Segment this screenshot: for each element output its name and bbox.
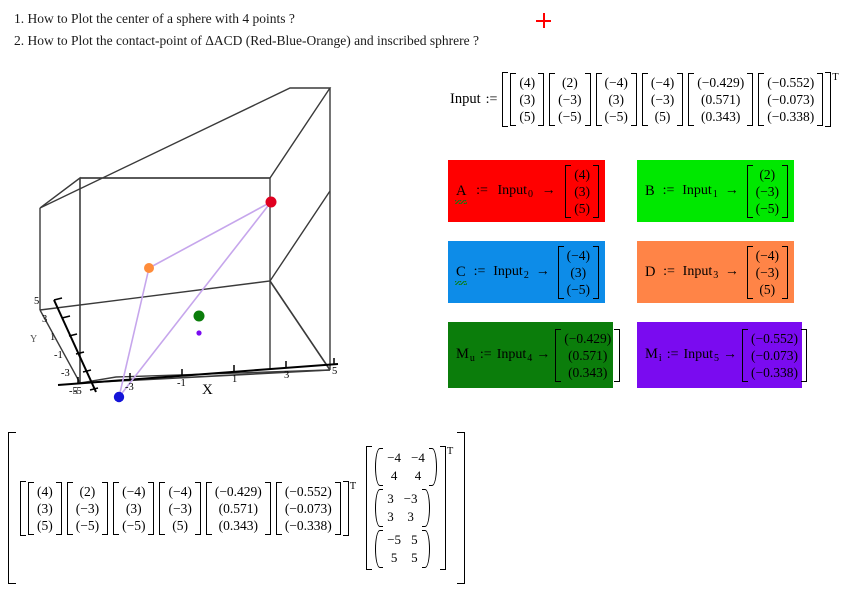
result-vector-1-cell-1: (−3): [756, 183, 779, 200]
questions-block: 1. How to Plot the center of a sphere wi…: [14, 8, 574, 52]
bottom-pair-group: −4−4443−333−5555 T: [366, 446, 453, 570]
evaluate-arrow-icon: →: [536, 264, 550, 280]
result-vector-5-cell-2: (−0.338): [751, 364, 798, 381]
bottom-vector-3-cell-2: (5): [168, 517, 191, 534]
input-definition-region[interactable]: Input := (4)(3)(5)(2)(−3)(−5)(−4)(3)(−5)…: [450, 72, 839, 127]
evaluate-arrow-icon: →: [542, 183, 556, 199]
x-axis-label: X: [202, 382, 213, 399]
input-vector-2-cell-0: (−4): [605, 74, 628, 91]
pair-block-2-cell-1-0: 5: [387, 550, 401, 566]
y-axis-label: Y: [30, 334, 36, 345]
assign-operator: :=: [480, 347, 492, 363]
bottom-vector-2: (−4)(3)(−5): [113, 482, 154, 535]
bottom-pair-transpose: T: [447, 446, 453, 457]
result-vector-4: (−0.429)(0.571)(0.343): [555, 329, 620, 382]
input-vector-5-cell-2: (−0.338): [767, 108, 814, 125]
bottom-vector-4-cell-1: (0.571): [215, 500, 262, 517]
bottom-vector-1-cell-1: (−3): [76, 500, 99, 517]
bottom-vector-5-cell-0: (−0.552): [285, 483, 332, 500]
definition-expression-b: B:=Input1→(2)(−3)(−5): [645, 165, 788, 218]
definition-expression-a: A:=Input0→(4)(3)(5): [456, 165, 599, 218]
point-mi: [196, 330, 201, 335]
pair-block-1-cell-0-1: −3: [404, 491, 418, 507]
bottom-vector-4: (−0.429)(0.571)(0.343): [206, 482, 271, 535]
pair-block-0-cell-1-0: 4: [387, 468, 401, 484]
input-vector-list: (4)(3)(5)(2)(−3)(−5)(−4)(3)(−5)(−4)(−3)(…: [508, 72, 825, 127]
input-vector-0-cell-0: (4): [519, 74, 535, 91]
source-reference: Input5: [683, 347, 719, 364]
input-vector-0: (4)(3)(5): [510, 73, 544, 126]
pair-block-2: −5555: [375, 530, 437, 568]
pair-block-0-cell-0-1: −4: [411, 450, 425, 466]
definition-identifier: Mi: [645, 346, 662, 364]
input-vector-2: (−4)(3)(−5): [596, 73, 637, 126]
assign-operator: :=: [474, 264, 486, 280]
definition-expression-mu: Mu:=Input4→(−0.429)(0.571)(0.343): [456, 329, 607, 382]
bottom-vector-1: (2)(−3)(−5): [67, 482, 108, 535]
source-reference: Input1: [682, 183, 718, 200]
result-vector-1: (2)(−3)(−5): [747, 165, 788, 218]
point-mu: [194, 311, 205, 322]
evaluate-arrow-icon: →: [536, 347, 550, 363]
pair-block-1: 3−333: [375, 489, 437, 527]
input-expression[interactable]: Input := (4)(3)(5)(2)(−3)(−5)(−4)(3)(−5)…: [450, 72, 839, 127]
point-d: [144, 263, 154, 273]
evaluate-arrow-icon: →: [725, 264, 739, 280]
definition-identifier-subscript: u: [470, 353, 475, 364]
question-line-1: 1. How to Plot the center of a sphere wi…: [14, 8, 574, 30]
bottom-vector-5-cell-2: (−0.338): [285, 517, 332, 534]
source-reference: Input0: [497, 183, 533, 200]
pair-block-2-cell-1-1: 5: [411, 550, 418, 566]
definition-identifier: D: [645, 264, 655, 281]
bottom-vector-5: (−0.552)(−0.073)(−0.338): [276, 482, 341, 535]
assign-operator: :=: [663, 264, 675, 280]
bottom-vector-3-cell-0: (−4): [168, 483, 191, 500]
input-outer-bracket: (4)(3)(5)(2)(−3)(−5)(−4)(3)(−5)(−4)(−3)(…: [502, 72, 838, 127]
definition-expression-d: D:=Input3→(−4)(−3)(5): [645, 246, 788, 299]
result-vector-5-cell-0: (−0.552): [751, 330, 798, 347]
bottom-vector-1-cell-0: (2): [76, 483, 99, 500]
result-vector-3: (−4)(−3)(5): [747, 246, 788, 299]
bottom-vector-0-cell-0: (4): [37, 483, 53, 500]
result-vector-2-cell-1: (3): [567, 264, 590, 281]
bottom-vector-2-cell-2: (−5): [122, 517, 145, 534]
bottom-vector-0-cell-2: (5): [37, 517, 53, 534]
bottom-vector-0: (4)(3)(5): [28, 482, 62, 535]
assign-operator: :=: [663, 183, 675, 199]
input-vector-5-cell-0: (−0.552): [767, 74, 814, 91]
result-vector-0-cell-2: (5): [574, 200, 590, 217]
result-vector-5-cell-1: (−0.073): [751, 347, 798, 364]
plot-box-edges: [40, 88, 330, 383]
y-tick-1: 1: [50, 332, 55, 343]
input-vector-2-cell-2: (−5): [605, 108, 628, 125]
y-tick-m1: -1: [54, 350, 63, 361]
result-vector-2: (−4)(3)(−5): [558, 246, 599, 299]
result-vector-1-cell-0: (2): [756, 166, 779, 183]
crosshair-cursor-icon[interactable]: [536, 13, 551, 28]
definition-box-a[interactable]: A:=Input0→(4)(3)(5): [448, 160, 605, 222]
pair-block-2-cell-0-1: 5: [411, 532, 418, 548]
input-vector-3-cell-0: (−4): [651, 74, 674, 91]
input-vector-1-cell-0: (2): [558, 74, 581, 91]
bottom-vector-3: (−4)(−3)(5): [159, 482, 200, 535]
input-assign-operator: :=: [486, 92, 498, 108]
result-vector-1-cell-2: (−5): [756, 200, 779, 217]
bottom-vector-5-cell-1: (−0.073): [285, 500, 332, 517]
y-tick-5: 5: [34, 296, 39, 307]
definition-identifier: A: [456, 183, 466, 200]
input-vector-3-cell-2: (5): [651, 108, 674, 125]
source-index-subscript: 3: [713, 270, 718, 281]
source-index-subscript: 4: [527, 353, 532, 364]
plot-box-back-edges: [40, 178, 270, 383]
data-points: [114, 197, 277, 411]
input-vector-1-cell-1: (−3): [558, 91, 581, 108]
input-vector-5-cell-1: (−0.073): [767, 91, 814, 108]
input-vector-5: (−0.552)(−0.073)(−0.338): [758, 73, 823, 126]
pair-block-0: −4−444: [375, 448, 437, 486]
source-reference: Input3: [683, 264, 719, 281]
result-vector-0: (4)(3)(5): [565, 165, 599, 218]
evaluate-arrow-icon: →: [723, 347, 737, 363]
pair-block-1-cell-0-0: 3: [387, 491, 394, 507]
bottom-result-matrix[interactable]: (4)(3)(5)(2)(−3)(−5)(−4)(3)(−5)(−4)(−3)(…: [8, 432, 465, 589]
point-a: [266, 197, 277, 208]
bottom-vector-group: (4)(3)(5)(2)(−3)(−5)(−4)(3)(−5)(−4)(−3)(…: [20, 481, 356, 536]
bottom-vector-4-cell-2: (0.343): [215, 517, 262, 534]
definition-identifier-subscript: i: [659, 353, 662, 364]
input-vector-0-cell-2: (5): [519, 108, 535, 125]
bottom-vector-0-cell-1: (3): [37, 500, 53, 517]
triangle-edges: [119, 202, 271, 397]
bottom-vector-list: (4)(3)(5)(2)(−3)(−5)(−4)(3)(−5)(−4)(−3)(…: [26, 481, 343, 536]
bottom-vector-2-cell-1: (3): [122, 500, 145, 517]
bottom-vector-3-cell-1: (−3): [168, 500, 191, 517]
bottom-outer-bracket: (4)(3)(5)(2)(−3)(−5)(−4)(3)(−5)(−4)(−3)(…: [8, 432, 465, 584]
x-tick-1: 1: [232, 374, 237, 385]
input-vector-4-cell-1: (0.571): [697, 91, 744, 108]
input-vector-2-cell-1: (3): [605, 91, 628, 108]
bottom-vector-transpose: T: [350, 481, 356, 492]
x-axis: [58, 364, 338, 385]
source-index-subscript: 2: [524, 270, 529, 281]
pair-block-0-cell-0-0: −4: [387, 450, 401, 466]
evaluate-arrow-icon: →: [725, 183, 739, 199]
y-tick-m3: -3: [61, 368, 70, 379]
x-tick-m5: -5: [73, 386, 82, 397]
input-vector-0-cell-1: (3): [519, 91, 535, 108]
definition-box-mu[interactable]: Mu:=Input4→(−0.429)(0.571)(0.343): [448, 322, 613, 388]
input-vector-3-cell-1: (−3): [651, 91, 674, 108]
result-vector-3-cell-0: (−4): [756, 247, 779, 264]
result-vector-3-cell-1: (−3): [756, 264, 779, 281]
x-tick-m3: -3: [125, 382, 134, 393]
result-vector-5: (−0.552)(−0.073)(−0.338): [742, 329, 807, 382]
plot-canvas: [18, 85, 363, 410]
bottom-vector-1-cell-2: (−5): [76, 517, 99, 534]
bottom-pair-list: −4−4443−333−5555: [375, 448, 437, 568]
definition-expression-c: C:=Input2→(−4)(3)(−5): [456, 246, 599, 299]
result-vector-0-cell-1: (3): [574, 183, 590, 200]
pair-block-1-cell-1-1: 3: [404, 509, 418, 525]
definition-box-c[interactable]: C:=Input2→(−4)(3)(−5): [448, 241, 605, 303]
result-vector-4-cell-2: (0.343): [564, 364, 611, 381]
question-line-2: 2. How to Plot the contact-point of ΔACD…: [14, 30, 574, 52]
input-vector-4-cell-2: (0.343): [697, 108, 744, 125]
source-reference: Input2: [493, 264, 529, 281]
result-vector-4-cell-0: (−0.429): [564, 330, 611, 347]
input-vector-3: (−4)(−3)(5): [642, 73, 683, 126]
input-vector-4-cell-0: (−0.429): [697, 74, 744, 91]
definition-box-mi[interactable]: Mi:=Input5→(−0.552)(−0.073)(−0.338): [637, 322, 802, 388]
pair-block-1-cell-1-0: 3: [387, 509, 394, 525]
source-reference: Input4: [497, 347, 533, 364]
y-tick-3: 3: [42, 314, 47, 325]
definition-expression-mi: Mi:=Input5→(−0.552)(−0.073)(−0.338): [645, 329, 796, 382]
definition-identifier: Mu: [456, 346, 475, 364]
x-tick-5: 5: [332, 366, 337, 377]
result-vector-2-cell-2: (−5): [567, 281, 590, 298]
result-vector-4-cell-1: (0.571): [564, 347, 611, 364]
definition-box-d[interactable]: D:=Input3→(−4)(−3)(5): [637, 241, 794, 303]
source-index-subscript: 1: [713, 189, 718, 200]
input-vector-4: (−0.429)(0.571)(0.343): [688, 73, 753, 126]
definition-identifier: C: [456, 264, 466, 281]
input-identifier: Input: [450, 91, 481, 108]
result-vector-0-cell-0: (4): [574, 166, 590, 183]
bottom-vector-4-cell-0: (−0.429): [215, 483, 262, 500]
source-index-subscript: 5: [714, 353, 719, 364]
pair-block-2-cell-0-0: −5: [387, 532, 401, 548]
x-tick-3: 3: [284, 370, 289, 381]
pair-block-0-cell-1-1: 4: [411, 468, 425, 484]
assign-operator: :=: [476, 183, 488, 199]
bottom-matrix-expression: (4)(3)(5)(2)(−3)(−5)(−4)(3)(−5)(−4)(−3)(…: [8, 432, 465, 584]
input-vector-1: (2)(−3)(−5): [549, 73, 590, 126]
three-d-scatter-plot[interactable]: 5 3 1 -1 -3 -5 Y -5 -3 -1 1 3 5 X: [18, 85, 363, 410]
bottom-vector-2-cell-0: (−4): [122, 483, 145, 500]
input-vector-1-cell-2: (−5): [558, 108, 581, 125]
input-transpose-exponent: T: [832, 72, 838, 83]
result-vector-3-cell-2: (5): [756, 281, 779, 298]
point-c: [114, 392, 124, 402]
source-index-subscript: 0: [528, 189, 533, 200]
definition-box-b[interactable]: B:=Input1→(2)(−3)(−5): [637, 160, 794, 222]
x-tick-m1: -1: [177, 378, 186, 389]
result-vector-2-cell-0: (−4): [567, 247, 590, 264]
definition-identifier: B: [645, 183, 655, 200]
assign-operator: :=: [667, 347, 679, 363]
